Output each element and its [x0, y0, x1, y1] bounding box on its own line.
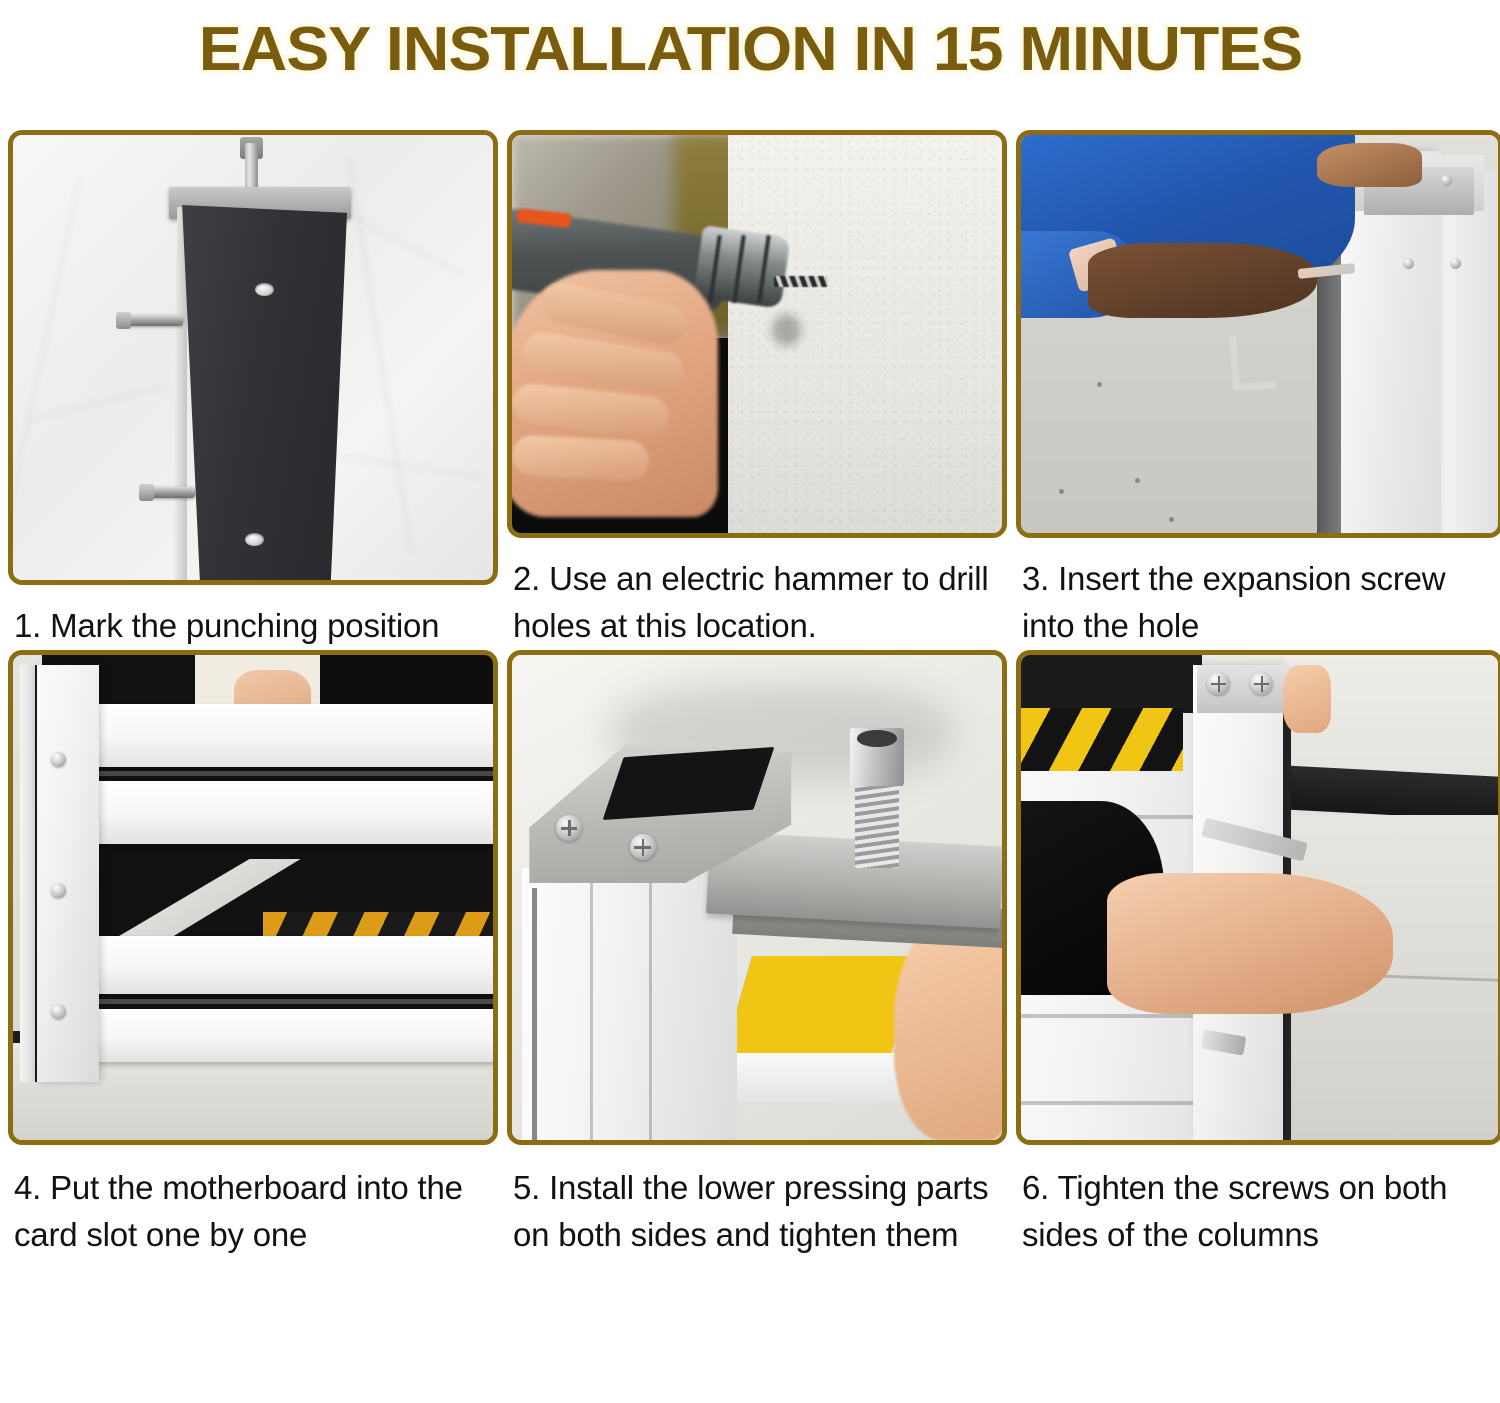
step-caption-6: 6. Tighten the screws on both sides of t… — [1016, 1165, 1500, 1259]
step-photo-frame-2 — [507, 130, 1007, 538]
step-caption-1: 1. Mark the punching position — [8, 603, 498, 650]
step-photo-1 — [13, 135, 493, 580]
step-photo-5 — [512, 655, 1002, 1140]
step-photo-2 — [512, 135, 1002, 533]
step-photo-frame-1 — [8, 130, 498, 585]
steps-grid: 1. Mark the punching position — [8, 130, 1492, 1395]
step-caption-2: 2. Use an electric hammer to drill holes… — [507, 556, 1007, 650]
step-photo-frame-4 — [8, 650, 498, 1145]
step-card-3: 3. Insert the expansion screw into the h… — [1016, 130, 1500, 650]
step-photo-3 — [1021, 135, 1498, 533]
step-card-4: 4. Put the motherboard into the card slo… — [8, 650, 498, 1275]
step-card-6: 6. Tighten the screws on both sides of t… — [1016, 650, 1500, 1275]
step-photo-4 — [13, 655, 493, 1140]
step-caption-3: 3. Insert the expansion screw into the h… — [1016, 556, 1500, 650]
step-caption-5: 5. Install the lower pressing parts on b… — [507, 1165, 1007, 1259]
installation-guide-page: EASY INSTALLATION IN 15 MINUTES — [0, 0, 1500, 1403]
step-photo-frame-5 — [507, 650, 1007, 1145]
step-photo-6 — [1021, 655, 1498, 1140]
step-caption-4: 4. Put the motherboard into the card slo… — [8, 1165, 498, 1259]
step-photo-frame-3 — [1016, 130, 1500, 538]
step-card-1: 1. Mark the punching position — [8, 130, 498, 650]
title-banner: EASY INSTALLATION IN 15 MINUTES — [0, 0, 1500, 100]
step-photo-frame-6 — [1016, 650, 1500, 1145]
page-title: EASY INSTALLATION IN 15 MINUTES — [198, 19, 1301, 81]
step-card-2: 2. Use an electric hammer to drill holes… — [507, 130, 1007, 650]
step-card-5: 5. Install the lower pressing parts on b… — [507, 650, 1007, 1275]
